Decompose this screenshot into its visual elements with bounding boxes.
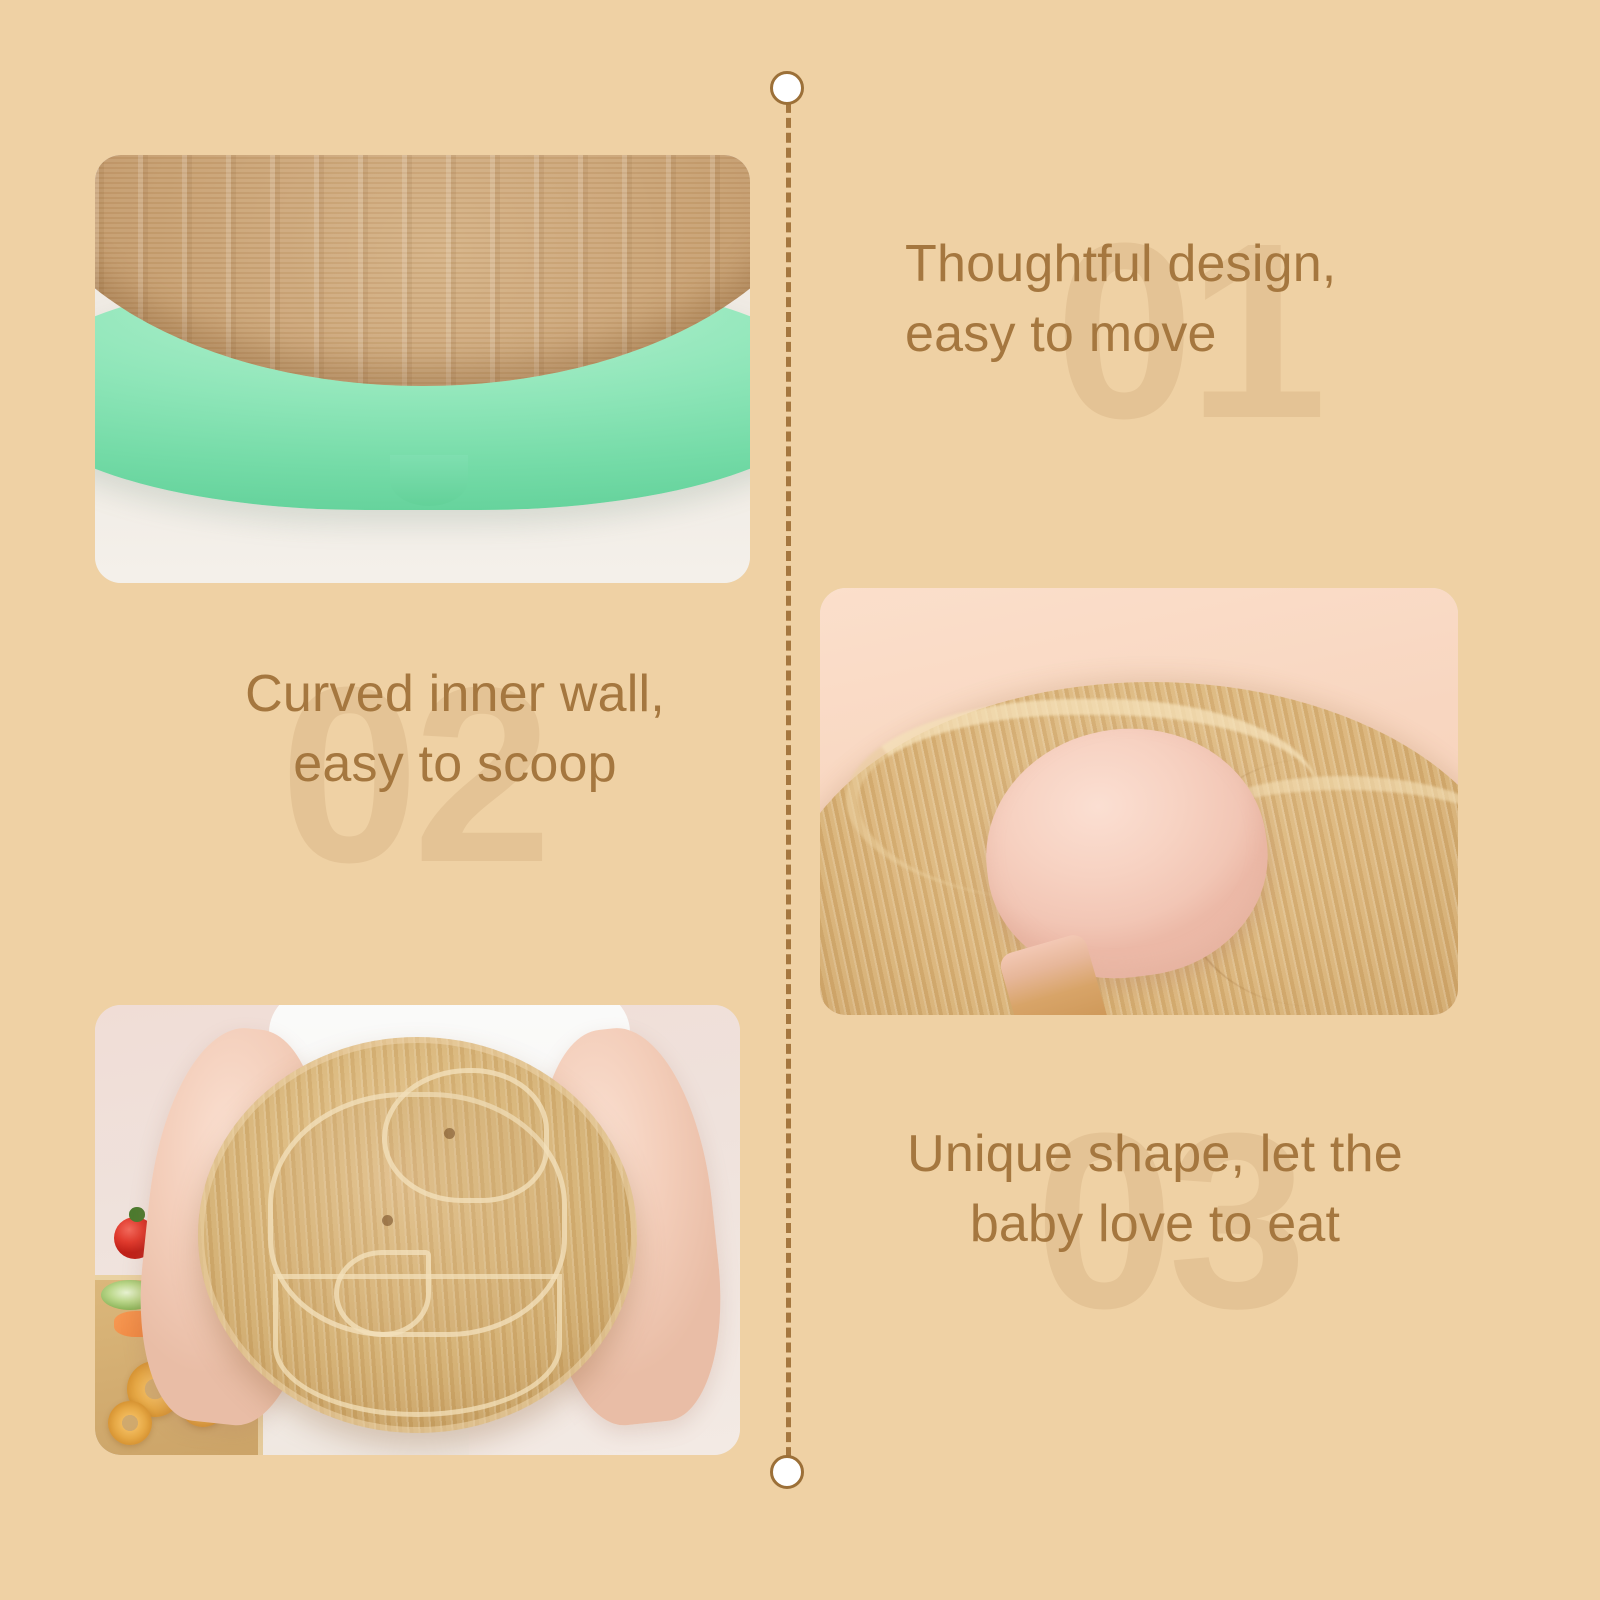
elephant-head-compartment xyxy=(382,1068,549,1203)
feature-block-01: 01 Thoughtful design, easy to move xyxy=(905,230,1465,369)
infographic-canvas: 01 Thoughtful design, easy to move 02 Cu… xyxy=(0,0,1600,1600)
feature-block-02: 02 Curved inner wall, easy to scoop xyxy=(175,660,735,799)
silicone-pull-tab xyxy=(390,455,469,506)
feature-photo-hands-holding-elephant-bamboo-plate xyxy=(95,1005,740,1455)
feature-headline-01: Thoughtful design, easy to move xyxy=(905,230,1465,369)
lower-compartment xyxy=(273,1274,562,1417)
photo-scene xyxy=(820,588,1458,1015)
feature-headline-03: Unique shape, let the baby love to eat xyxy=(855,1120,1455,1259)
elephant-bamboo-plate xyxy=(198,1037,637,1433)
photo-scene xyxy=(95,155,750,583)
elephant-eye-icon xyxy=(444,1128,455,1139)
dashed-timeline-divider xyxy=(786,88,788,1472)
feature-headline-02: Curved inner wall, easy to scoop xyxy=(175,660,735,799)
divider-node-top-icon xyxy=(770,71,804,105)
feature-photo-pink-silicone-spoon-on-bamboo-plate xyxy=(820,588,1458,1015)
divider-dashed-line xyxy=(786,88,791,1472)
divider-node-bottom-icon xyxy=(770,1455,804,1489)
feature-block-03: 03 Unique shape, let the baby love to ea… xyxy=(855,1120,1455,1259)
cookie xyxy=(108,1401,152,1445)
feature-photo-bamboo-bowl-mint-suction-base xyxy=(95,155,750,583)
photo-scene xyxy=(95,1005,740,1455)
